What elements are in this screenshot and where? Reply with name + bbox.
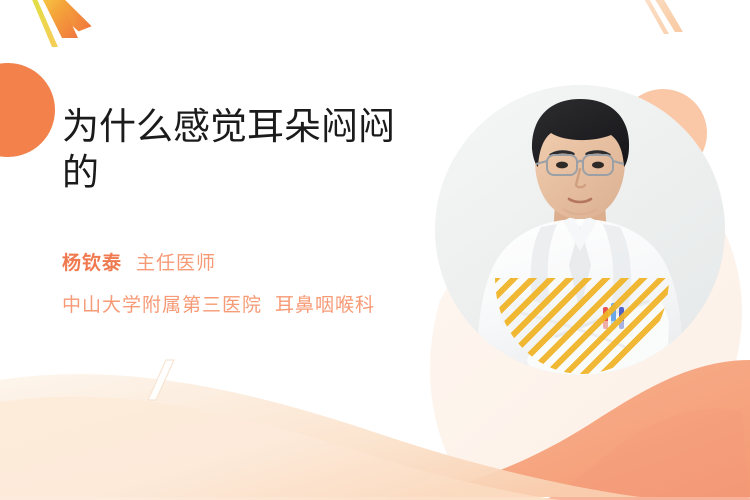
doctor-department: 耳鼻咽喉科	[275, 290, 375, 317]
stripe-pattern	[495, 278, 669, 374]
eye-right	[592, 162, 604, 169]
portrait-bottom-striped-arc	[495, 278, 669, 374]
page-title: 为什么感觉耳朵闷闷的	[62, 104, 404, 196]
doctor-credit-row: 杨钦泰 主任医师	[62, 248, 422, 275]
doctor-rank: 主任医师	[136, 248, 216, 275]
doctor-portrait	[435, 85, 725, 375]
eye-left	[556, 162, 568, 169]
doctor-affiliation-row: 中山大学附属第三医院 耳鼻咽喉科	[62, 290, 422, 317]
promo-card: 为什么感觉耳朵闷闷的 杨钦泰 主任医师 中山大学附属第三医院 耳鼻咽喉科	[0, 0, 750, 500]
left-orange-circle	[0, 63, 55, 157]
doctor-name: 杨钦泰	[62, 248, 122, 275]
text-block: 为什么感觉耳朵闷闷的 杨钦泰 主任医师 中山大学附属第三医院 耳鼻咽喉科	[62, 104, 422, 317]
top-right-diagonal-stripe-peach	[648, 0, 683, 32]
doctor-hospital: 中山大学附属第三医院	[62, 290, 262, 317]
